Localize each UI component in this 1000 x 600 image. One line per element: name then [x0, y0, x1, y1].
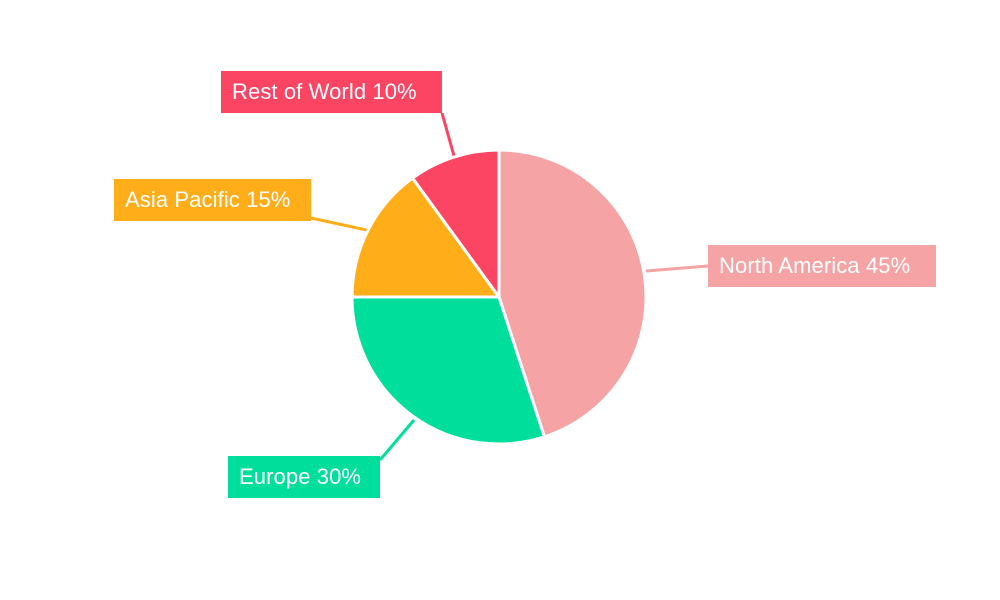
- pie-label-europe[interactable]: Europe 30%: [228, 456, 380, 498]
- pie-label-north-america[interactable]: North America 45%: [708, 245, 936, 287]
- pie-label-rest-of-world[interactable]: Rest of World 10%: [221, 71, 442, 113]
- pie-slice-group: [352, 150, 646, 444]
- leader-line-north-america: [646, 266, 708, 271]
- pie-label-asia-pacific[interactable]: Asia Pacific 15%: [114, 179, 311, 221]
- leader-line-asia-pacific: [311, 218, 371, 231]
- leader-line-europe: [380, 420, 414, 460]
- pie-chart-canvas: [0, 0, 1000, 600]
- pie-chart: North America 45%Europe 30%Asia Pacific …: [0, 0, 1000, 600]
